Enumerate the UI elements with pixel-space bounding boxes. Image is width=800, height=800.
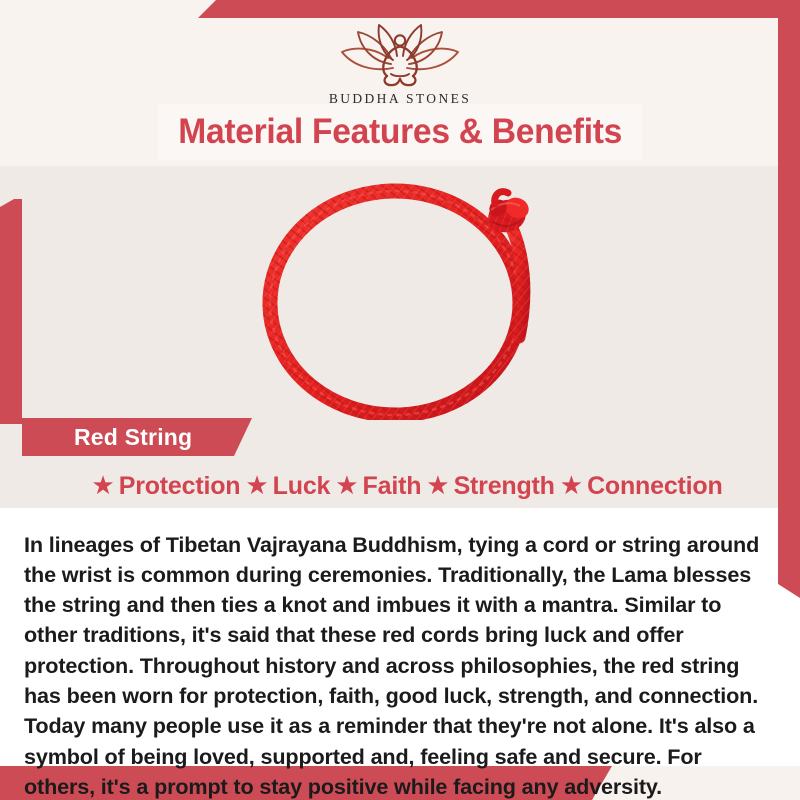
headline-plate: Material Features & Benefits [158,104,642,160]
lotus-meditation-icon [333,18,467,88]
brand-lockup: BUDDHA STONES [0,18,800,107]
benefit-label: Connection [587,472,723,501]
benefit-connection: ★ Connection [560,472,723,501]
star-icon: ★ [91,472,114,498]
benefit-label: Strength [454,472,555,501]
benefits-row: ★ Protection ★ Luck ★ Faith ★ Strength ★… [0,466,800,506]
benefit-protection: ★ Protection [91,472,240,501]
product-image-stage [0,166,800,418]
ribbon-label: Red String [74,424,192,451]
benefit-faith: ★ Faith [335,472,421,501]
benefit-luck: ★ Luck [245,472,330,501]
description-paragraph: In lineages of Tibetan Vajrayana Buddhis… [24,530,776,800]
red-string-ribbon: Red String [22,418,252,456]
promo-poster: BUDDHA STONES Material Features & Benefi… [0,0,800,800]
benefit-label: Protection [119,472,241,501]
benefit-label: Luck [273,472,331,501]
benefit-strength: ★ Strength [426,472,554,501]
page-title: Material Features & Benefits [178,112,622,152]
star-icon: ★ [245,472,268,498]
star-icon: ★ [335,472,358,498]
benefit-label: Faith [363,472,422,501]
star-icon: ★ [560,472,583,498]
star-icon: ★ [426,472,449,498]
red-braided-string-bracelet-image [243,170,573,420]
